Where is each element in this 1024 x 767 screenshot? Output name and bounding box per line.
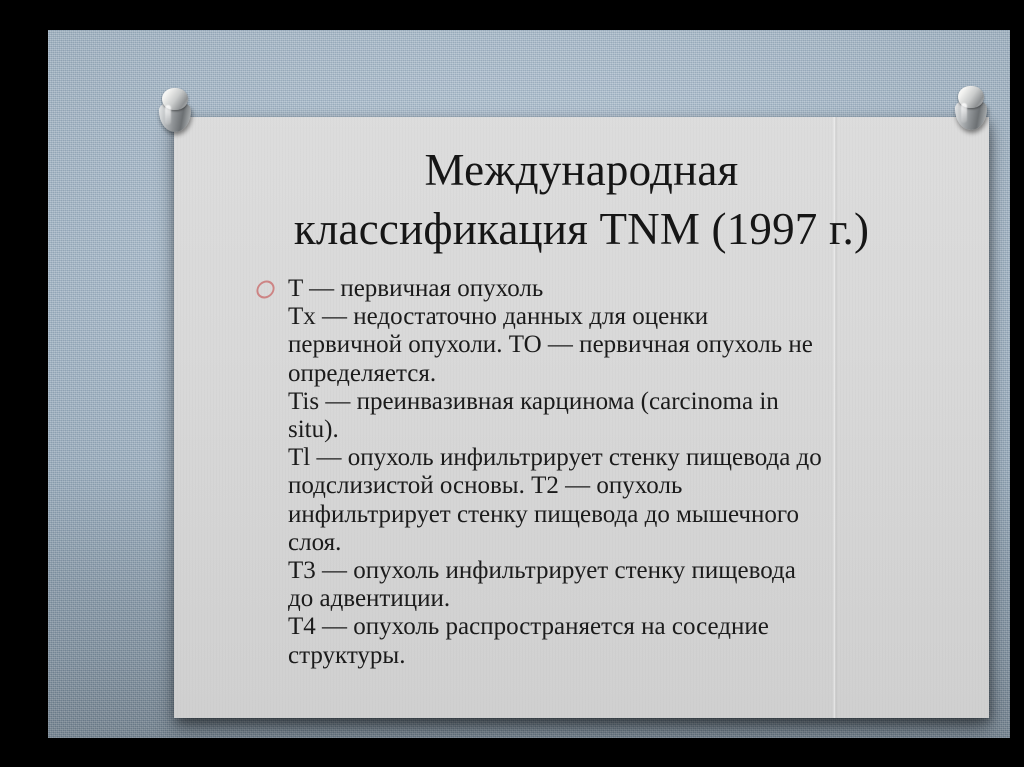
push-pin-right-icon xyxy=(952,86,994,144)
push-pin-highlight xyxy=(961,103,967,123)
oval-bullet-icon xyxy=(254,278,277,302)
push-pin-highlight xyxy=(165,105,171,125)
bullet-text-block: T — первичная опухоль Tx — недостаточно … xyxy=(288,275,946,670)
body-line: T3 — опухоль инфильтрирует стенку пищево… xyxy=(288,557,946,585)
body-line: слоя. xyxy=(288,529,946,557)
body-line: T — первичная опухоль xyxy=(288,275,946,303)
push-pin-left-icon xyxy=(156,88,198,146)
slide-body: T — первичная опухоль Tx — недостаточно … xyxy=(246,275,946,670)
bullet-list-item: T — первичная опухоль Tx — недостаточно … xyxy=(246,275,946,670)
body-line: первичной опухоли. ТО — первичная опухол… xyxy=(288,331,946,359)
body-line: инфильтрирует стенку пищевода до мышечно… xyxy=(288,501,946,529)
slide-title-line-1: Международная xyxy=(204,141,959,200)
body-line: подслизистой основы. T2 — опухоль xyxy=(288,472,946,500)
slide-title-line-2: классификация TNM (1997 г.) xyxy=(204,200,959,259)
body-line: структуры. xyxy=(288,642,946,670)
paper-sheet: Международная классификация TNM (1997 г.… xyxy=(174,117,989,718)
body-line: Tis — преинвазивная карцинома (carcinoma… xyxy=(288,388,946,416)
slide-frame: Международная классификация TNM (1997 г.… xyxy=(0,0,1024,767)
body-line: определяется. xyxy=(288,360,946,388)
body-line: Tx — недостаточно данных для оценки xyxy=(288,303,946,331)
body-line: до адвентиции. xyxy=(288,585,946,613)
slide-title: Международная классификация TNM (1997 г.… xyxy=(204,141,959,259)
body-line: situ). xyxy=(288,416,946,444)
fabric-board-background: Международная классификация TNM (1997 г.… xyxy=(48,30,1010,738)
body-line: T4 — опухоль распространяется на соседни… xyxy=(288,613,946,641)
body-line: Tl — опухоль инфильтрирует стенку пищево… xyxy=(288,444,946,472)
